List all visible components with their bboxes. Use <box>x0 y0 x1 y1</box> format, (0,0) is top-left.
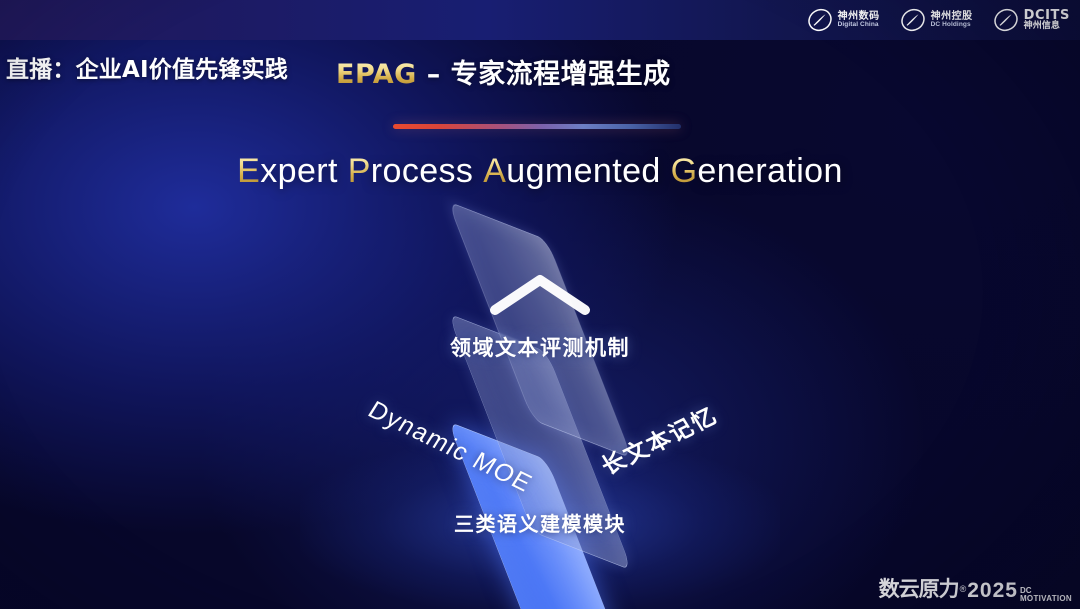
sponsor-name-en-2: 神州信息 <box>1024 22 1070 31</box>
sponsor-text-0: 神州数码 Digital China <box>838 12 880 29</box>
title-separator: – <box>417 59 451 90</box>
subtitle-space-1 <box>338 152 348 190</box>
slide-canvas: 数云原力 ® 2025 DC MOTIVATION 神州数码 Digital C… <box>0 0 1080 609</box>
sponsor-name-en-0: Digital China <box>838 22 880 29</box>
layer-stack-diagram: 领域文本评测机制 Dynamic MOE 长文本记忆 三类语义建模模块 <box>0 0 1080 609</box>
subtitle-space-2 <box>473 152 483 190</box>
subtitle-cap-a: A <box>483 152 506 190</box>
subtitle-word-augmented: ugmented <box>506 152 660 190</box>
sponsor-logo-2: DCITS 神州信息 <box>993 8 1070 32</box>
sponsor-logo-group: 神州数码 Digital China 神州控股 DC Holdings DCIT… <box>807 5 1070 35</box>
title-acronym: EPAG <box>336 59 417 90</box>
subtitle-word-process: rocess <box>371 152 474 190</box>
title-chinese: 专家流程增强生成 <box>451 59 671 90</box>
sponsor-text-1: 神州控股 DC Holdings <box>931 12 973 29</box>
subtitle-space-3 <box>661 152 671 190</box>
slide-title: EPAG – 专家流程增强生成 <box>336 52 671 91</box>
sponsor-text-2: DCITS 神州信息 <box>1024 9 1070 31</box>
swoosh-icon <box>993 8 1019 32</box>
swoosh-icon <box>807 8 833 32</box>
iso-plate-top <box>448 201 633 459</box>
title-divider <box>393 124 681 129</box>
sponsor-logo-1: 神州控股 DC Holdings <box>900 8 973 32</box>
swoosh-icon <box>900 8 926 32</box>
subtitle-cap-p: P <box>348 152 371 190</box>
live-session-label: 直播：企业AI价值先锋实践 <box>6 50 288 84</box>
subtitle-word-generation: eneration <box>697 152 842 190</box>
layer-label-top: 领域文本评测机制 <box>0 332 1080 362</box>
sponsor-name-en-1: DC Holdings <box>931 22 973 29</box>
subtitle-word-expert: xpert <box>260 152 338 190</box>
slide-subtitle: Expert Process Augmented Generation <box>0 152 1080 191</box>
layer-label-bottom: 三类语义建模模块 <box>0 508 1080 537</box>
subtitle-cap-e: E <box>237 152 260 190</box>
subtitle-cap-g: G <box>671 152 698 190</box>
chevron-up-icon <box>488 272 592 316</box>
sponsor-logo-0: 神州数码 Digital China <box>807 8 880 32</box>
